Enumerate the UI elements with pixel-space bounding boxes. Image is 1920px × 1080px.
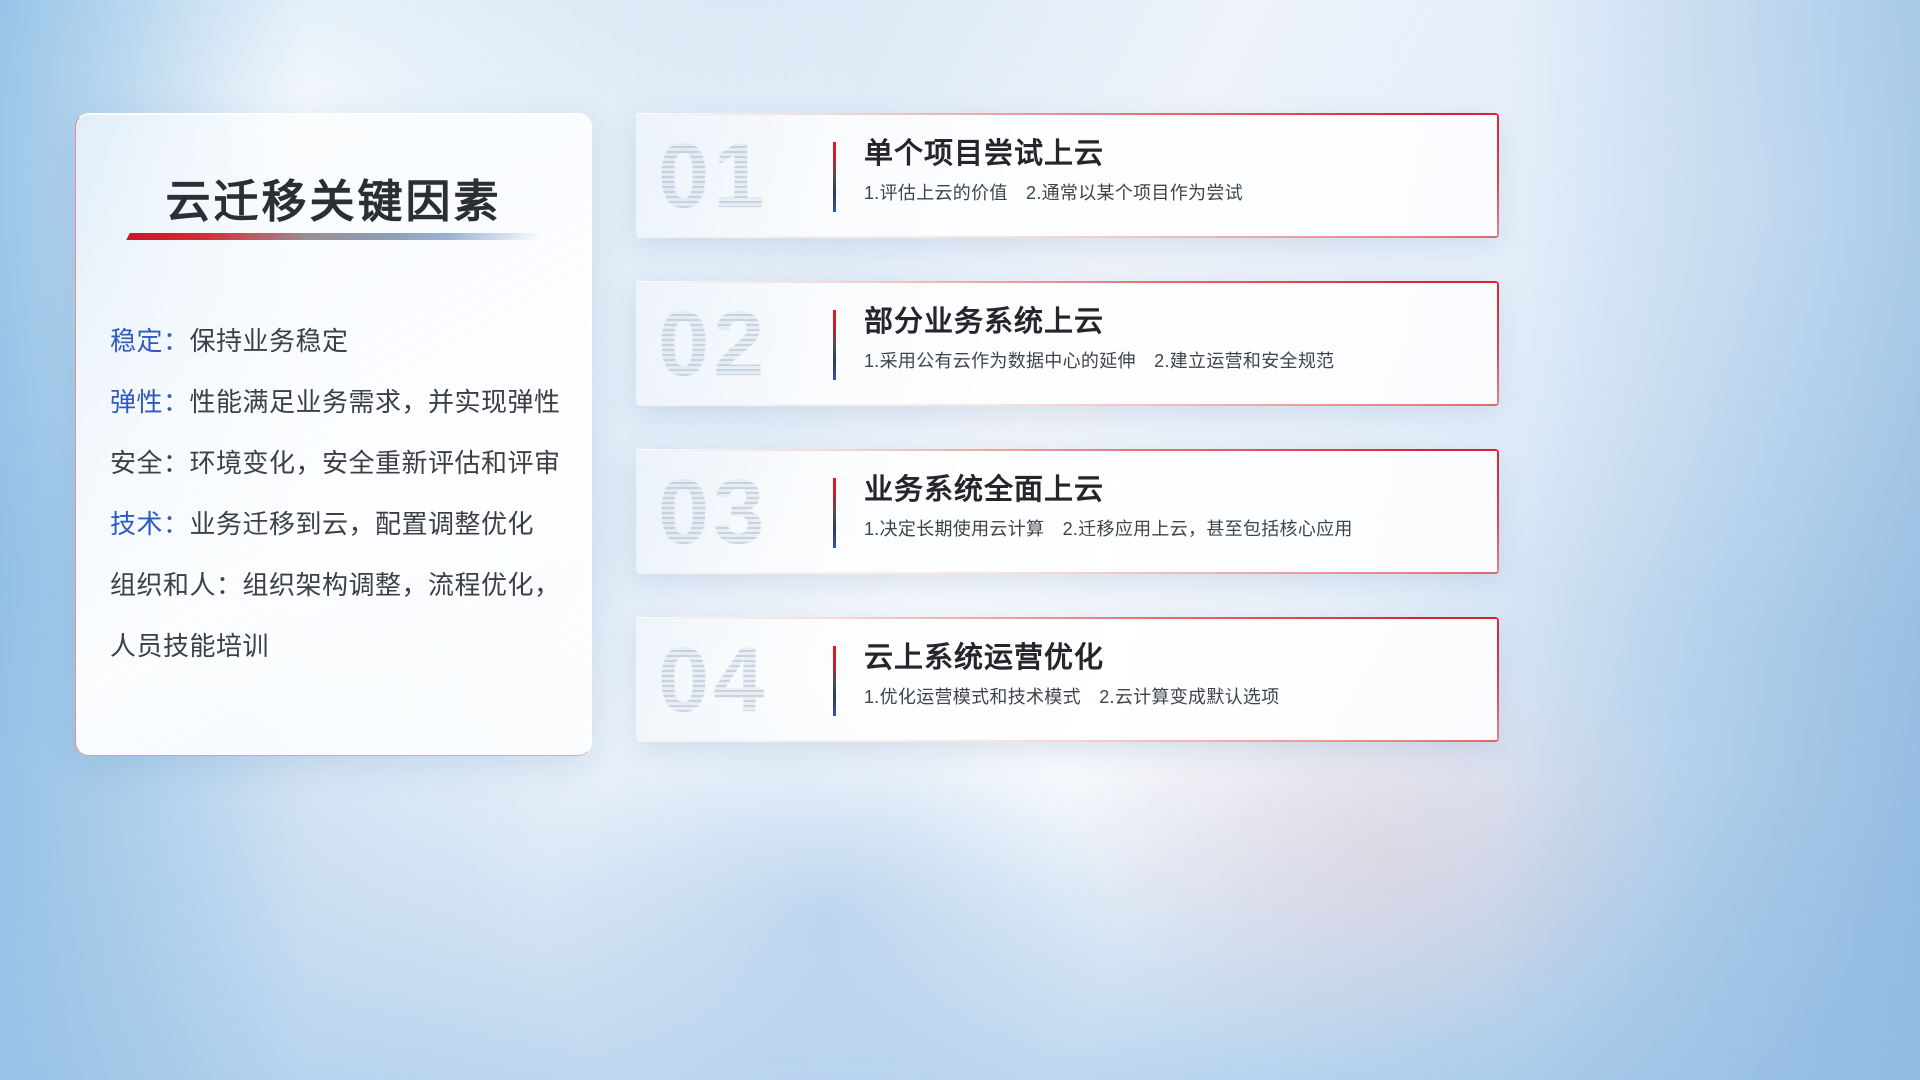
step-card-03[interactable]: 03 03 业务系统全面上云 1.决定长期使用云计算 2.迁移应用上云，甚至包括…	[636, 449, 1499, 574]
step-number-watermark: 02	[658, 289, 768, 399]
step-accent-bar	[833, 310, 836, 380]
page-title: 云迁移关键因素	[76, 165, 591, 230]
card-top-accent-line	[636, 281, 1499, 283]
list-item: 组织和人：组织架构调整，流程优化，	[110, 555, 571, 616]
card-right-accent-line	[1497, 617, 1499, 742]
step-card-04[interactable]: 04 04 云上系统运营优化 1.优化运营模式和技术模式 2.云计算变成默认选项	[636, 617, 1499, 742]
card-right-accent-line	[1497, 113, 1499, 238]
step-title: 单个项目尝试上云	[864, 135, 1475, 173]
step-title: 云上系统运营优化	[864, 639, 1475, 677]
step-accent-bar	[833, 646, 836, 716]
card-top-accent-line	[636, 449, 1499, 451]
step-accent-bar	[833, 478, 836, 548]
factor-label: 弹性：	[110, 387, 190, 417]
card-bottom-accent-line	[636, 572, 1499, 574]
factor-label: 组织和人：	[110, 570, 243, 600]
factor-text: 组织架构调整，流程优化，	[243, 570, 561, 600]
title-underline-accent	[126, 233, 543, 240]
card-right-accent-line	[1497, 449, 1499, 574]
list-item: 弹性：性能满足业务需求，并实现弹性	[110, 372, 571, 433]
step-number-watermark: 01	[658, 121, 768, 231]
step-text-block: 单个项目尝试上云 1.评估上云的价值 2.通常以某个项目作为尝试	[864, 135, 1475, 206]
step-text-block: 业务系统全面上云 1.决定长期使用云计算 2.迁移应用上云，甚至包括核心应用	[864, 471, 1475, 542]
key-factors-panel: 云迁移关键因素 稳定：保持业务稳定 弹性：性能满足业务需求，并实现弹性 安全：环…	[75, 113, 592, 756]
card-bottom-accent-line	[636, 740, 1499, 742]
list-item: 稳定：保持业务稳定	[110, 311, 571, 372]
key-factors-list: 稳定：保持业务稳定 弹性：性能满足业务需求，并实现弹性 安全：环境变化，安全重新…	[110, 311, 571, 677]
step-number-watermark: 04	[658, 625, 768, 735]
step-text-block: 部分业务系统上云 1.采用公有云作为数据中心的延伸 2.建立运营和安全规范	[864, 303, 1475, 374]
step-number-watermark: 03	[658, 457, 768, 567]
card-bottom-accent-line	[636, 404, 1499, 406]
factor-text: 保持业务稳定	[190, 326, 349, 356]
step-description: 1.决定长期使用云计算 2.迁移应用上云，甚至包括核心应用	[864, 516, 1475, 542]
step-card-01[interactable]: 01 01 单个项目尝试上云 1.评估上云的价值 2.通常以某个项目作为尝试	[636, 113, 1499, 238]
factor-text: 人员技能培训	[110, 631, 269, 661]
list-item: 人员技能培训	[110, 616, 571, 677]
factor-label: 技术：	[110, 509, 190, 539]
list-item: 安全：环境变化，安全重新评估和评审	[110, 433, 571, 494]
step-title: 业务系统全面上云	[864, 471, 1475, 509]
factor-label: 稳定：	[110, 326, 190, 356]
slide-content: 云迁移关键因素 稳定：保持业务稳定 弹性：性能满足业务需求，并实现弹性 安全：环…	[0, 0, 1920, 1080]
card-bottom-accent-line	[636, 236, 1499, 238]
step-description: 1.采用公有云作为数据中心的延伸 2.建立运营和安全规范	[864, 348, 1475, 374]
factor-text: 业务迁移到云，配置调整优化	[190, 509, 535, 539]
list-item: 技术：业务迁移到云，配置调整优化	[110, 494, 571, 555]
step-accent-bar	[833, 142, 836, 212]
card-top-accent-line	[636, 113, 1499, 115]
factor-text: 环境变化，安全重新评估和评审	[190, 448, 561, 478]
card-top-accent-line	[636, 617, 1499, 619]
card-right-accent-line	[1497, 281, 1499, 406]
factor-label: 安全：	[110, 448, 190, 478]
step-description: 1.评估上云的价值 2.通常以某个项目作为尝试	[864, 180, 1475, 206]
step-text-block: 云上系统运营优化 1.优化运营模式和技术模式 2.云计算变成默认选项	[864, 639, 1475, 710]
migration-steps-list: 01 01 单个项目尝试上云 1.评估上云的价值 2.通常以某个项目作为尝试 0…	[636, 113, 1499, 785]
factor-text: 性能满足业务需求，并实现弹性	[190, 387, 561, 417]
step-title: 部分业务系统上云	[864, 303, 1475, 341]
step-description: 1.优化运营模式和技术模式 2.云计算变成默认选项	[864, 684, 1475, 710]
step-card-02[interactable]: 02 02 部分业务系统上云 1.采用公有云作为数据中心的延伸 2.建立运营和安…	[636, 281, 1499, 406]
